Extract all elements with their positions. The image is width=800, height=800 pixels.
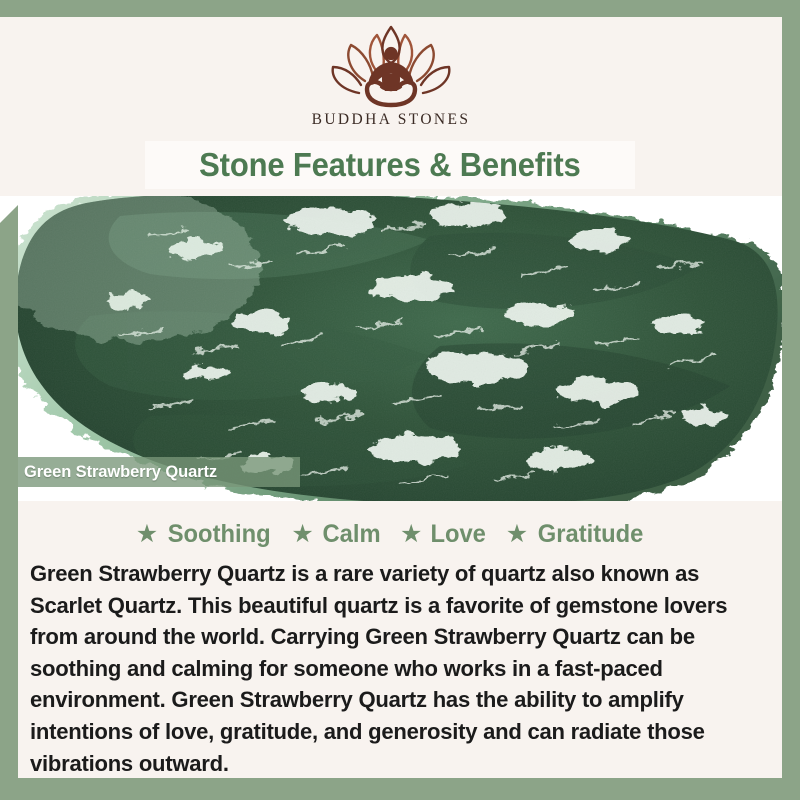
- star-icon: ★: [136, 522, 158, 547]
- gemstone-photo: Green Strawberry Quartz: [0, 196, 782, 501]
- photo-caption-band: Green Strawberry Quartz: [0, 457, 300, 487]
- brand-header: BUDDHA STONES: [0, 17, 782, 145]
- stone-description: Green Strawberry Quartz is a rare variet…: [30, 558, 767, 779]
- infographic-card: BUDDHA STONES Stone Features & Benefits: [0, 0, 800, 800]
- feature-item: ★ Soothing: [136, 520, 274, 549]
- feature-item: ★ Gratitude: [506, 520, 647, 549]
- frame-band-top: [0, 0, 800, 17]
- feature-label: Calm: [322, 520, 380, 549]
- photo-caption: Green Strawberry Quartz: [0, 463, 217, 482]
- feature-label: Gratitude: [538, 520, 644, 549]
- lotus-meditation-figure-icon: [325, 23, 457, 109]
- brand-wordmark: BUDDHA STONES: [312, 111, 471, 129]
- page-title: Stone Features & Benefits: [199, 146, 580, 184]
- gemstone-illustration: [0, 196, 782, 501]
- star-icon: ★: [400, 522, 422, 547]
- feature-item: ★ Calm: [291, 520, 382, 549]
- feature-label: Soothing: [168, 520, 271, 549]
- feature-item: ★ Love: [400, 520, 488, 549]
- frame-band-bottom: [0, 778, 606, 800]
- star-icon: ★: [506, 522, 528, 547]
- title-band: Stone Features & Benefits: [145, 141, 635, 189]
- feature-label: Love: [431, 520, 486, 549]
- star-icon: ★: [291, 522, 313, 547]
- feature-keywords-row: ★ Soothing ★ Calm ★ Love ★ Gratitude: [0, 516, 782, 552]
- frame-band-left: [0, 205, 18, 800]
- frame-band-right: [782, 0, 800, 586]
